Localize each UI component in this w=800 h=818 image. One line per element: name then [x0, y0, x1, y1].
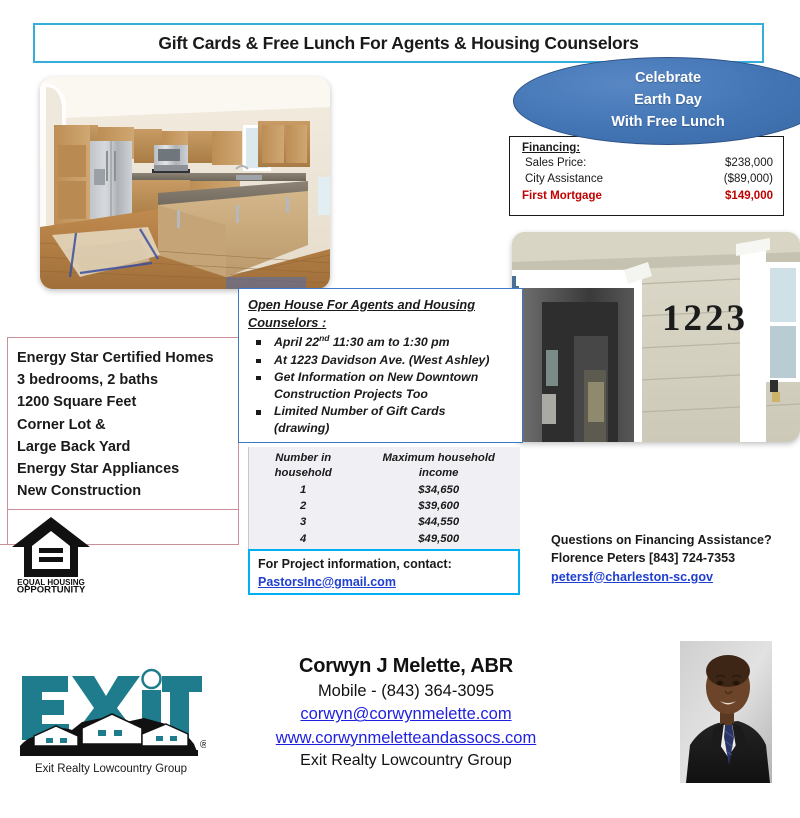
eho-line-2-text: OPPORTUNITY — [17, 585, 86, 594]
exit-realty-logo-graphic: ® Exit Realty Lowcountry Group — [16, 662, 206, 780]
bullet-main-text: April 22 — [274, 335, 319, 349]
agent-company-name: Exit Realty Lowcountry Group — [250, 750, 562, 773]
house-exterior-photo: 1223 — [512, 232, 800, 442]
financing-questions-block: Questions on Financing Assistance? Flore… — [551, 531, 800, 586]
income-table-header-income: Maximum household income — [357, 451, 520, 482]
income-table-element: Number in household Maximum household in… — [249, 451, 520, 547]
agent-email-link[interactable]: corwyn@corwynmelette.com — [250, 703, 562, 726]
open-house-title-line-1: Open House For Agents and Housing — [248, 296, 516, 314]
table-row: 2 $39,600 — [249, 498, 520, 514]
feature-line: Energy Star Certified Homes — [17, 347, 238, 369]
agent-website-link[interactable]: www.corwynmeletteandassocs.com — [250, 727, 562, 750]
agent-mobile-phone: Mobile - (843) 364-3095 — [250, 680, 562, 703]
feature-line: 1200 Square Feet — [17, 391, 238, 413]
bullet-main-text: At 1223 Davidson Ave. (West Ashley) — [274, 353, 490, 367]
open-house-bullet: Get Information on New Downtown Construc… — [248, 369, 516, 403]
bullet-main-text: Limited Number of Gift Cards — [274, 404, 445, 418]
cell-income: $44,550 — [357, 514, 520, 530]
feature-line: Large Back Yard — [17, 436, 238, 458]
table-row: 4 $49,500 — [249, 531, 520, 547]
exit-realty-logo: ® Exit Realty Lowcountry Group — [16, 662, 206, 780]
financing-box: Financing: Sales Price: $238,000 City As… — [509, 136, 784, 216]
page-title: Gift Cards & Free Lunch For Agents & Hou… — [158, 33, 638, 54]
cell-household: 2 — [249, 498, 357, 514]
cell-income: $39,600 — [357, 498, 520, 514]
financing-value: $149,000 — [725, 188, 773, 204]
financing-label: First Mortgage — [522, 188, 602, 204]
cell-household: 3 — [249, 514, 357, 530]
project-contact-email-link[interactable]: PastorsInc@gmail.com — [258, 574, 518, 592]
agent-name: Corwyn J Melette, ABR — [250, 653, 562, 680]
equal-housing-opportunity-icon: EQUAL HOUSING OPPORTUNITY — [10, 515, 92, 593]
kitchen-photo-graphic — [40, 77, 330, 289]
project-contact-label: For Project information, contact: — [258, 556, 518, 574]
registered-mark-text: ® — [200, 739, 206, 751]
income-table-header-household: Number in household — [249, 451, 357, 482]
equal-housing-logo-graphic: EQUAL HOUSING OPPORTUNITY — [10, 515, 92, 593]
kitchen-interior-photo — [40, 77, 330, 289]
financing-questions-email-link[interactable]: petersf@charleston-sc.gov — [551, 570, 713, 584]
financing-row-first-mortgage: First Mortgage $149,000 — [522, 188, 773, 204]
oval-line-1: Celebrate — [635, 68, 701, 90]
financing-label: City Assistance — [522, 171, 603, 187]
project-contact-box: For Project information, contact: Pastor… — [248, 549, 520, 595]
cell-income: $49,500 — [357, 531, 520, 547]
financing-value: ($89,000) — [724, 171, 773, 187]
header-line-2: income — [361, 466, 516, 481]
income-table-header-row: Number in household Maximum household in… — [249, 451, 520, 482]
table-row: 1 $34,650 — [249, 482, 520, 498]
cell-household: 4 — [249, 531, 357, 547]
open-house-bullet: At 1223 Davidson Ave. (West Ashley) — [248, 352, 516, 369]
earth-day-oval: Celebrate Earth Day With Free Lunch — [513, 57, 800, 145]
agent-photo-graphic — [680, 641, 772, 783]
feature-line: 3 bedrooms, 2 baths — [17, 369, 238, 391]
agent-contact-block: Corwyn J Melette, ABR Mobile - (843) 364… — [250, 653, 562, 773]
cell-household: 1 — [249, 482, 357, 498]
financing-row-sales-price: Sales Price: $238,000 — [522, 155, 773, 171]
income-table-body: 1 $34,650 2 $39,600 3 $44,550 4 $49,500 — [249, 482, 520, 548]
income-limits-table: Number in household Maximum household in… — [248, 447, 520, 550]
financing-value: $238,000 — [725, 155, 773, 171]
agent-headshot-photo — [680, 641, 772, 783]
bullet-rest-text: 11:30 am to 1:30 pm — [330, 335, 450, 349]
bullet-main-text: Get Information on New Downtown — [274, 370, 478, 384]
open-house-bullet: Limited Number of Gift Cards (drawing) — [248, 403, 516, 437]
exit-tagline-text: Exit Realty Lowcountry Group — [35, 763, 187, 775]
feature-line: Corner Lot & — [17, 414, 238, 436]
feature-line: Energy Star Appliances — [17, 458, 238, 480]
bullet-superscript: nd — [319, 333, 329, 343]
features-box: Energy Star Certified Homes 3 bedrooms, … — [7, 337, 239, 510]
bullet-continuation-text: (drawing) — [274, 420, 516, 437]
open-house-title-line-2: Counselors : — [248, 314, 516, 332]
house-photo-graphic: 1223 — [512, 232, 800, 442]
oval-line-3: With Free Lunch — [611, 112, 724, 134]
financing-questions-contact: Florence Peters [843] 724-7353 — [551, 549, 800, 567]
financing-label: Sales Price: — [522, 155, 586, 171]
financing-row-city-assistance: City Assistance ($89,000) — [522, 171, 773, 187]
open-house-box: Open House For Agents and Housing Counse… — [238, 288, 523, 443]
feature-line: New Construction — [17, 480, 238, 502]
header-line-1: Maximum household — [361, 451, 516, 466]
income-table-head: Number in household Maximum household in… — [249, 451, 520, 482]
oval-line-2: Earth Day — [634, 90, 702, 112]
open-house-bullet: April 22nd 11:30 am to 1:30 pm — [248, 333, 516, 351]
financing-questions-heading: Questions on Financing Assistance? — [551, 531, 800, 549]
open-house-bullet-list: April 22nd 11:30 am to 1:30 pm At 1223 D… — [248, 333, 516, 437]
svg-text:1223: 1223 — [662, 298, 748, 339]
cell-income: $34,650 — [357, 482, 520, 498]
bullet-continuation-text: Construction Projects Too — [274, 386, 516, 403]
header-line-2: household — [253, 466, 353, 481]
table-row: 3 $44,550 — [249, 514, 520, 530]
header-line-1: Number in — [253, 451, 353, 466]
